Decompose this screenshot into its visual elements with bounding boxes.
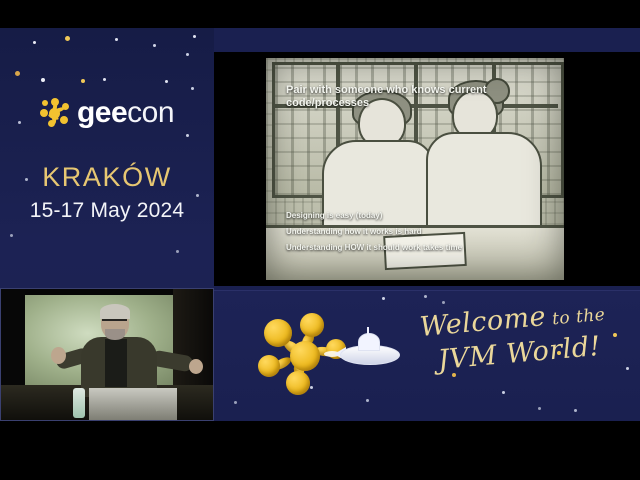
speaker-video-panel[interactable] [0, 288, 214, 421]
slide-title: Pair with someone who knows current code… [286, 84, 536, 110]
speaker-right-hand [189, 359, 203, 374]
speaker-hair [100, 304, 130, 319]
letterbox-top [0, 0, 640, 28]
speaker-shirt [105, 339, 127, 387]
logo-wordmark: geecon [77, 98, 174, 128]
screen-share-slide[interactable]: Pair with someone who knows current code… [214, 52, 640, 286]
brand-block: geecon KRAKÓW 15-17 May 2024 [0, 98, 214, 223]
logo-wordmark-light: con [127, 96, 174, 129]
conference-dates: 15-17 May 2024 [0, 199, 214, 223]
conference-city: KRAKÓW [0, 162, 214, 193]
rocket-antenna [367, 327, 369, 336]
conference-branding-panel: geecon KRAKÓW 15-17 May 2024 [0, 28, 214, 421]
broadcast-content: geecon KRAKÓW 15-17 May 2024 [0, 28, 640, 421]
right-column: Pair with someone who knows current code… [214, 28, 640, 421]
slide-bullet-list: Designing is easy (today) Understanding … [286, 212, 546, 260]
geecon-logo: geecon [0, 98, 214, 128]
speaker-left-hand [51, 347, 66, 364]
letterbox-bottom [0, 421, 640, 480]
molecule-icon [40, 98, 70, 128]
video-stage: geecon KRAKÓW 15-17 May 2024 [0, 0, 640, 480]
logo-wordmark-bold: gee [77, 96, 127, 129]
speaker-beard [105, 329, 125, 340]
rocket-dome [358, 333, 380, 351]
welcome-word-small: to the [545, 305, 606, 330]
glasses-icon [102, 319, 127, 326]
slide-bullet: Understanding how it works is hard [286, 228, 546, 236]
welcome-message: Welcome to the JVM World! [420, 313, 630, 376]
rocket-icon [332, 331, 404, 371]
water-bottle [73, 388, 85, 418]
welcome-banner-panel: Welcome to the JVM World! [214, 290, 640, 422]
podium [89, 388, 177, 420]
slide-bullet: Designing is easy (today) [286, 212, 546, 220]
slide-bullet: Understanding HOW it should work takes t… [286, 244, 546, 252]
